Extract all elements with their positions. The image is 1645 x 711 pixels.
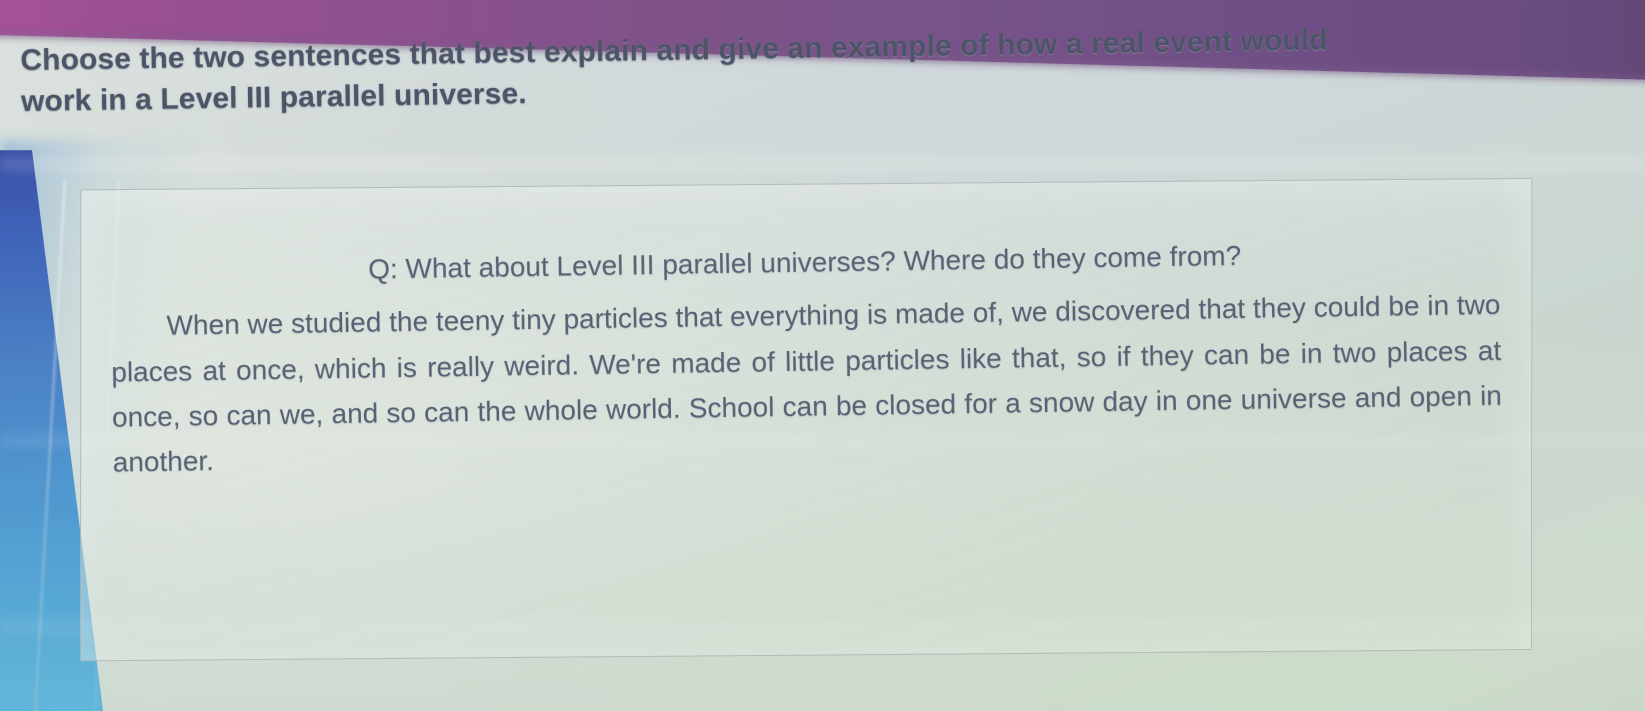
screen-content-plane: Choose the two sentences that best expla…: [0, 0, 1645, 711]
passage-text: Q: What about Level III parallel univers…: [109, 229, 1503, 486]
screenshot-root: Choose the two sentences that best expla…: [0, 0, 1645, 711]
passage-body-text: When we studied the teeny tiny particles…: [110, 282, 1503, 485]
question-prompt: Choose the two sentences that best expla…: [20, 19, 1381, 123]
